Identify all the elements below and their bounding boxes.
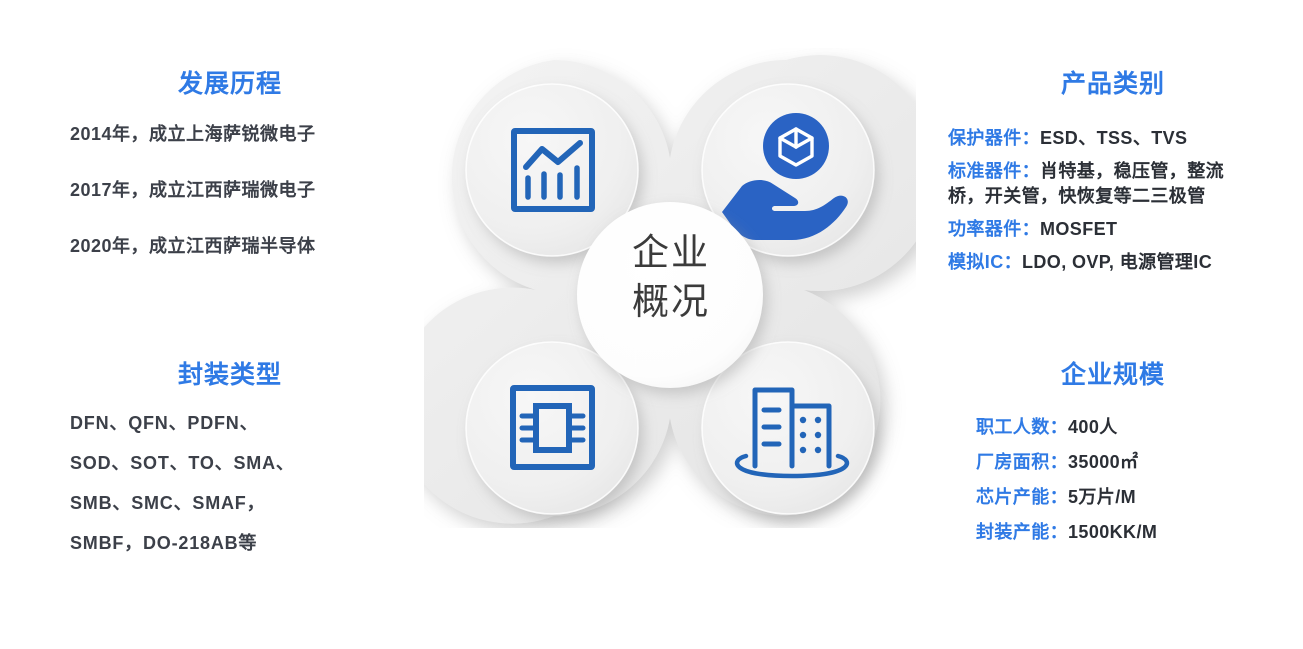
- central-diagram: 企业 概况: [424, 48, 916, 528]
- packaging-line: SOD、SOT、TO、SMA、: [70, 454, 390, 472]
- packaging-line: SMB、SMC、SMAF，: [70, 494, 390, 512]
- product-label: 标准器件：: [948, 161, 1040, 181]
- history-list: 2014年，成立上海萨锐微电子 2017年，成立江西萨瑞微电子 2020年，成立…: [70, 125, 390, 255]
- infographic-canvas: 发展历程 2014年，成立上海萨锐微电子 2017年，成立江西萨瑞微电子 202…: [0, 0, 1303, 649]
- packaging-line: SMBF，DO-218AB等: [70, 534, 390, 552]
- products-list: 保护器件：ESD、TSS、TVS 标准器件：肖特基，稳压管，整流 桥，开关管，快…: [948, 129, 1278, 271]
- scale-value: 400人: [1068, 417, 1118, 437]
- section-products: 产品类别 保护器件：ESD、TSS、TVS 标准器件：肖特基，稳压管，整流 桥，…: [948, 72, 1278, 271]
- product-entry: 模拟IC：LDO, OVP, 电源管理IC: [948, 253, 1278, 271]
- scale-value: 35000㎡: [1068, 452, 1138, 472]
- products-title: 产品类别: [948, 72, 1278, 97]
- scale-label: 职工人数：: [976, 417, 1068, 437]
- product-value-continuation: 桥，开关管，快恢复等二三极管: [948, 187, 1278, 205]
- scale-title: 企业规模: [948, 363, 1278, 388]
- product-label: 模拟IC：: [948, 252, 1022, 272]
- scale-entry: 芯片产能：5万片/M: [976, 488, 1278, 506]
- product-label: 功率器件：: [948, 219, 1040, 239]
- section-scale: 企业规模 职工人数：400人 厂房面积：35000㎡ 芯片产能：5万片/M 封装…: [948, 363, 1278, 541]
- packaging-title: 封装类型: [70, 363, 390, 388]
- packaging-list: DFN、QFN、PDFN、 SOD、SOT、TO、SMA、 SMB、SMC、SM…: [70, 414, 390, 552]
- center-label-line1: 企业: [592, 230, 750, 279]
- center-label: 企业 概况: [592, 230, 750, 328]
- product-value: MOSFET: [1040, 219, 1117, 239]
- product-value: LDO, OVP, 电源管理IC: [1022, 252, 1212, 272]
- product-entry: 功率器件：MOSFET: [948, 220, 1278, 238]
- history-title: 发展历程: [70, 72, 390, 97]
- scale-label: 封装产能：: [976, 522, 1068, 542]
- scale-value: 5万片/M: [1068, 487, 1136, 507]
- product-value: ESD、TSS、TVS: [1040, 128, 1187, 148]
- scale-entry: 职工人数：400人: [976, 418, 1278, 436]
- scale-entry: 厂房面积：35000㎡: [976, 453, 1278, 471]
- history-item: 2020年，成立江西萨瑞半导体: [70, 237, 390, 255]
- scale-value: 1500KK/M: [1068, 522, 1157, 542]
- product-value: 肖特基，稳压管，整流: [1040, 161, 1224, 181]
- center-label-line2: 概况: [592, 279, 750, 328]
- scale-entry: 封装产能：1500KK/M: [976, 523, 1278, 541]
- scale-label: 芯片产能：: [976, 487, 1068, 507]
- scale-list: 职工人数：400人 厂房面积：35000㎡ 芯片产能：5万片/M 封装产能：15…: [948, 418, 1278, 541]
- product-entry: 保护器件：ESD、TSS、TVS: [948, 129, 1278, 147]
- product-entry: 标准器件：肖特基，稳压管，整流: [948, 162, 1278, 180]
- product-label: 保护器件：: [948, 128, 1040, 148]
- history-item: 2017年，成立江西萨瑞微电子: [70, 181, 390, 199]
- packaging-line: DFN、QFN、PDFN、: [70, 414, 390, 432]
- history-item: 2014年，成立上海萨锐微电子: [70, 125, 390, 143]
- section-packaging: 封装类型 DFN、QFN、PDFN、 SOD、SOT、TO、SMA、 SMB、S…: [70, 363, 390, 552]
- section-history: 发展历程 2014年，成立上海萨锐微电子 2017年，成立江西萨瑞微电子 202…: [70, 72, 390, 255]
- scale-label: 厂房面积：: [976, 452, 1068, 472]
